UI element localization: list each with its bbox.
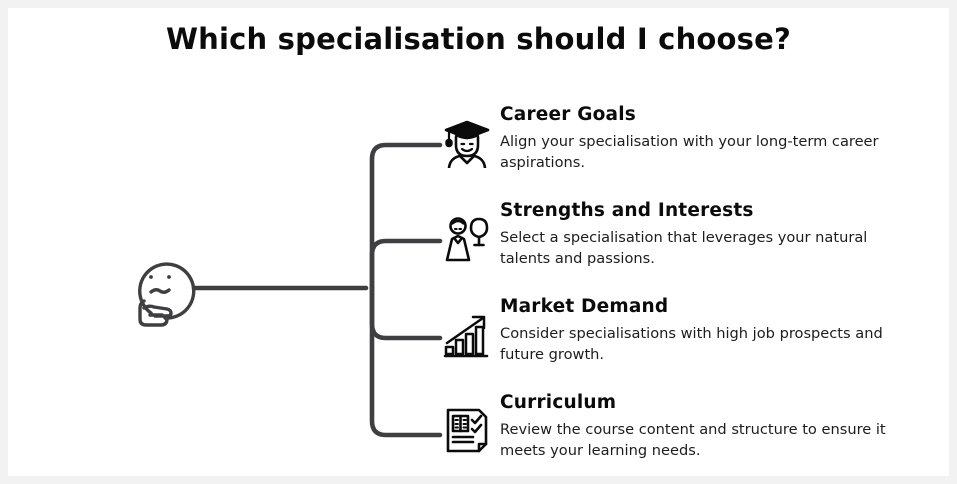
two-people-icon <box>443 214 491 264</box>
branch-text: Curriculum Review the course content and… <box>500 392 912 461</box>
branch-description: Align your specialisation with your long… <box>500 132 912 173</box>
branch-connector-4 <box>372 288 440 435</box>
branch-heading: Career Goals <box>500 104 912 126</box>
branch-connector-2 <box>372 241 440 288</box>
branch-text: Strengths and Interests Select a special… <box>500 200 912 269</box>
branch-description: Select a specialisation that leverages y… <box>500 228 912 269</box>
branch-description: Review the course content and structure … <box>500 420 912 461</box>
branch-text: Market Demand Consider specialisations w… <box>500 296 912 365</box>
page-title: Which specialisation should I choose? <box>8 22 949 56</box>
branch-heading: Market Demand <box>500 296 912 318</box>
graduate-student-icon <box>443 118 491 168</box>
thinking-face-icon <box>121 251 207 329</box>
branch-heading: Strengths and Interests <box>500 200 912 222</box>
diagram-canvas: Which specialisation should I choose? <box>8 8 949 476</box>
branch-description: Consider specialisations with high job p… <box>500 324 912 365</box>
branch-connector-3 <box>372 288 440 338</box>
branch-text: Career Goals Align your specialisation w… <box>500 104 912 173</box>
document-checklist-icon <box>443 406 491 456</box>
branch-connector-1 <box>372 145 440 288</box>
branch-heading: Curriculum <box>500 392 912 414</box>
bar-chart-growth-icon <box>443 310 491 360</box>
